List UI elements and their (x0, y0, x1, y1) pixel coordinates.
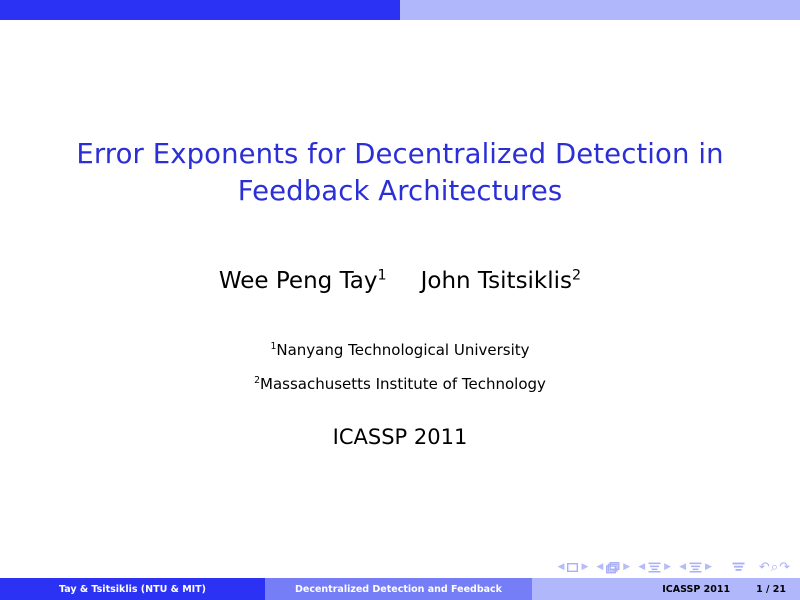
nav-group-presentation[interactable] (732, 562, 745, 573)
frames-stack-icon[interactable] (606, 562, 620, 574)
slide-title: Error Exponents for Decentralized Detect… (0, 136, 800, 210)
slide-canvas: Error Exponents for Decentralized Detect… (0, 0, 800, 600)
nav-group-history[interactable]: ↶ ⌕ ↷ (759, 561, 790, 574)
footer-authors: Tay & Tsitsiklis (NTU & MIT) (0, 578, 265, 600)
nav-next-frame-icon[interactable]: ▶ (623, 563, 630, 572)
presentation-lines-icon[interactable] (732, 562, 745, 573)
header-bar (0, 0, 800, 20)
footer-meta: ICASSP 2011 1 / 21 (532, 578, 800, 600)
author-affiliation-marker: 1 (378, 267, 387, 283)
footer-venue: ICASSP 2011 (662, 584, 730, 595)
nav-next-section-icon[interactable]: ▶ (705, 563, 712, 572)
header-bar-left (0, 0, 400, 20)
slide-icon[interactable] (567, 563, 578, 572)
nav-group-frame[interactable]: ◀ ▶ (596, 562, 630, 574)
nav-next-slide-icon[interactable]: ▶ (581, 563, 588, 572)
affiliation-list: 1Nanyang Technological University 2Massa… (0, 333, 800, 401)
affiliation-item: 1Nanyang Technological University (0, 333, 800, 367)
header-bar-right (400, 0, 800, 20)
author-item: John Tsitsiklis2 (421, 266, 582, 296)
affiliation-name: Nanyang Technological University (276, 341, 529, 359)
author-name: Wee Peng Tay (219, 268, 378, 294)
nav-next-subsection-icon[interactable]: ▶ (664, 563, 671, 572)
footer-page-number: 1 / 21 (756, 584, 786, 595)
affiliation-item: 2Massachusetts Institute of Technology (0, 367, 800, 401)
nav-prev-frame-icon[interactable]: ◀ (596, 563, 603, 572)
nav-group-section[interactable]: ◀ ▶ (679, 562, 712, 573)
footer-title: Decentralized Detection and Feedback (265, 578, 532, 600)
beamer-navigation-symbols[interactable]: ◀ ▶ ◀ ▶ ◀ (558, 561, 790, 574)
title-block: Error Exponents for Decentralized Detect… (0, 136, 800, 210)
nav-prev-section-icon[interactable]: ◀ (679, 563, 686, 572)
nav-prev-slide-icon[interactable]: ◀ (558, 563, 565, 572)
nav-group-subsection[interactable]: ◀ ▶ (638, 562, 671, 573)
footer-bar: Tay & Tsitsiklis (NTU & MIT) Decentraliz… (0, 578, 800, 600)
section-lines-icon[interactable] (689, 562, 702, 573)
author-item: Wee Peng Tay1 (219, 266, 387, 296)
nav-prev-subsection-icon[interactable]: ◀ (638, 563, 645, 572)
go-back-icon[interactable]: ↶ (759, 561, 770, 574)
subsection-lines-icon[interactable] (648, 562, 661, 573)
author-affiliation-marker: 2 (572, 267, 581, 283)
venue-line: ICASSP 2011 (0, 425, 800, 449)
affiliation-name: Massachusetts Institute of Technology (260, 375, 546, 393)
go-forward-icon[interactable]: ↷ (779, 561, 790, 574)
author-list: Wee Peng Tay1John Tsitsiklis2 (0, 266, 800, 296)
nav-group-slide[interactable]: ◀ ▶ (558, 563, 589, 572)
search-icon[interactable]: ⌕ (771, 561, 778, 574)
author-name: John Tsitsiklis (421, 268, 572, 294)
